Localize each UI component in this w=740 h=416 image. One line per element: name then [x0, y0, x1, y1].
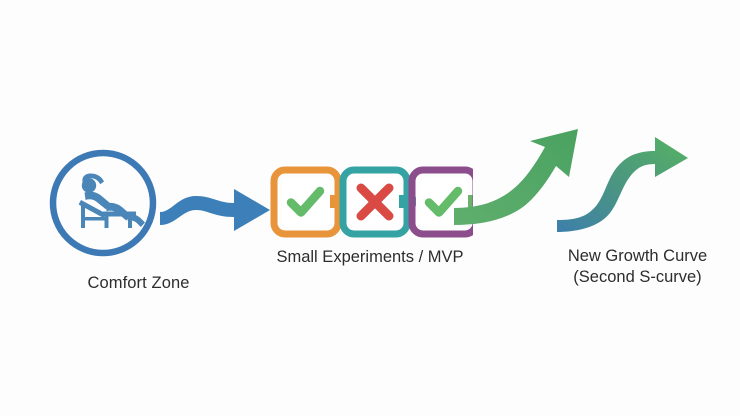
- comfort-zone-circle-icon: [48, 148, 158, 258]
- new-growth-curve-label: New Growth Curve (Second S-curve): [540, 246, 735, 288]
- diagram-canvas: Comfort Zone: [0, 0, 740, 416]
- small-experiments-stage: Small Experiments / MVP: [268, 166, 478, 274]
- new-growth-curve-label-line2: (Second S-curve): [540, 267, 735, 288]
- new-growth-curve-stage: New Growth Curve (Second S-curve): [552, 132, 722, 292]
- small-experiments-label: Small Experiments / MVP: [250, 248, 490, 267]
- experiment-boxes-group: [268, 166, 473, 238]
- experiment-box-fail: [343, 170, 407, 234]
- s-curve-arrow-icon: [552, 132, 692, 242]
- new-growth-curve-label-line1: New Growth Curve: [540, 246, 735, 267]
- experiment-box-pass-1: [274, 170, 338, 234]
- person-reclining-on-lounge-chair-icon: [79, 174, 145, 229]
- comfort-zone-label: Comfort Zone: [36, 274, 241, 293]
